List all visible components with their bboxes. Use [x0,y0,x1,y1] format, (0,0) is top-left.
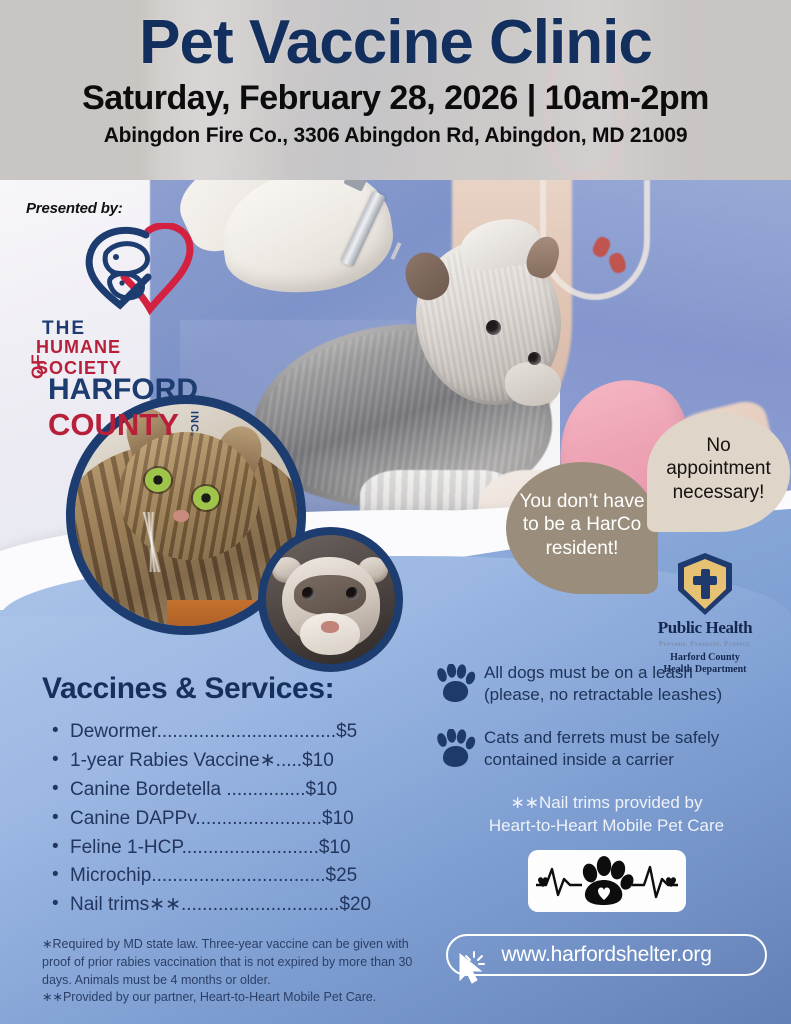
event-address: Abingdon Fire Co., 3306 Abingdon Rd, Abi… [0,124,791,148]
public-health-title: Public Health [645,618,765,638]
fine-print-nail-trims: ∗∗Provided by our partner, Heart-to-Hear… [42,989,414,1007]
humane-society-wordmark: THE HUMANE SOCIETY OF HARFORD COUNTY INC… [26,318,212,447]
cat-eye-right [193,486,219,510]
service-dots: ................................. [151,865,325,886]
rule-line-1: All dogs must be on a leash [484,662,722,684]
dog-muzzle [505,362,561,406]
heartbeat-paw-icon [532,855,682,907]
service-name: 1-year Rabies Vaccine∗ [70,750,276,771]
service-price: $10 [319,837,351,858]
ferret-eye-left [302,587,315,600]
rule-line-2: (please, no retractable leashes) [484,684,722,706]
service-dots: ..... [276,750,302,771]
cat-eye-left [145,468,171,492]
service-price: $10 [322,808,354,829]
public-health-shield-icon [678,553,732,615]
paw-print-icon [434,729,478,774]
flyer-header: Pet Vaccine Clinic Saturday, February 28… [0,0,791,180]
rule-line-2: contained inside a carrier [484,749,719,771]
list-item: Microchip...............................… [42,862,432,891]
service-name: Nail trims∗∗ [70,894,181,915]
stethoscope-icon [540,180,650,300]
humane-society-dog-cat-heart-icon [68,223,218,318]
logo-line-inc: INC. [188,411,200,437]
paw-print-icon [434,664,478,709]
website-url-text: www.harfordshelter.org [501,943,711,967]
dog-eye-right [528,352,541,365]
services-heading: Vaccines & Services: [42,672,432,706]
ferret-eye-right [346,587,359,600]
harford-county-health-department-logo: Public Health Prevent. Promote. Protect.… [645,553,765,676]
click-cursor-icon [452,944,498,990]
list-item: 1-year Rabies Vaccine∗.....$10 [42,747,432,776]
service-name: Dewormer [70,721,157,742]
nail-note-line-2: Heart-to-Heart Mobile Pet Care [434,815,779,838]
services-section: Vaccines & Services: Dewormer...........… [42,672,432,1007]
service-dots: ........................ [195,808,322,829]
ferret-muzzle [300,613,360,655]
service-price: $10 [306,779,338,800]
list-item: Canine Bordetella ...............$10 [42,776,432,805]
ferret-photo-circle [258,527,403,672]
page-title: Pet Vaccine Clinic [0,10,791,75]
service-price: $5 [336,721,357,742]
service-price: $20 [339,894,371,915]
fine-print-rabies: ∗Required by MD state law. Three-year va… [42,936,414,989]
list-item: Feline 1-HCP..........................$1… [42,834,432,863]
logo-line-county: COUNTY [48,407,179,443]
pet-vaccine-clinic-flyer: Pet Vaccine Clinic Saturday, February 28… [0,0,791,1024]
list-item: Nail trims∗∗............................… [42,891,432,920]
service-name: Feline 1-HCP [70,837,182,858]
presented-by-label: Presented by: [26,200,226,217]
callout-bubble-harco-residency: You don’t have to be a HarCo resident! [506,462,658,594]
medical-cross-icon [693,569,717,599]
presenter-block: Presented by: THE HUMANE SOCIETY OF HARF… [26,200,226,447]
nail-trim-note: ∗∗Nail trims provided by Heart-to-Heart … [434,792,779,838]
nail-note-line-1: ∗∗Nail trims provided by [434,792,779,815]
rule-dogs-leash: All dogs must be on a leash (please, no … [434,662,779,709]
service-dots: .......................... [182,837,319,858]
rule-carrier: Cats and ferrets must be safely containe… [434,727,779,774]
service-name: Canine DAPPv [70,808,195,829]
services-list: Dewormer................................… [42,718,432,920]
ferret-nose [321,621,339,633]
list-item: Canine DAPPv........................$10 [42,805,432,834]
dog-eye-left [486,320,501,335]
rules-section: All dogs must be on a leash (please, no … [434,662,779,976]
list-item: Dewormer................................… [42,718,432,747]
logo-line-harford: HARFORD [48,373,198,407]
cat-whiskers [89,512,219,572]
service-price: $10 [302,750,334,771]
event-datetime: Saturday, February 28, 2026 | 10am-2pm [0,79,791,118]
service-dots: ............... [226,779,305,800]
website-url-button[interactable]: www.harfordshelter.org [446,934,767,976]
service-name: Canine Bordetella [70,779,226,800]
service-dots: .............................. [181,894,339,915]
public-health-tagline: Prevent. Promote. Protect. [645,639,765,648]
service-dots: .................................. [157,721,336,742]
logo-line-of: OF [28,353,48,379]
service-name: Microchip [70,865,151,886]
rule-line-1: Cats and ferrets must be safely [484,727,719,749]
heart-to-heart-mobile-pet-care-logo [528,850,686,912]
service-price: $25 [326,865,358,886]
callout-bubble-no-appointment: No appointment necessary! [647,412,790,532]
